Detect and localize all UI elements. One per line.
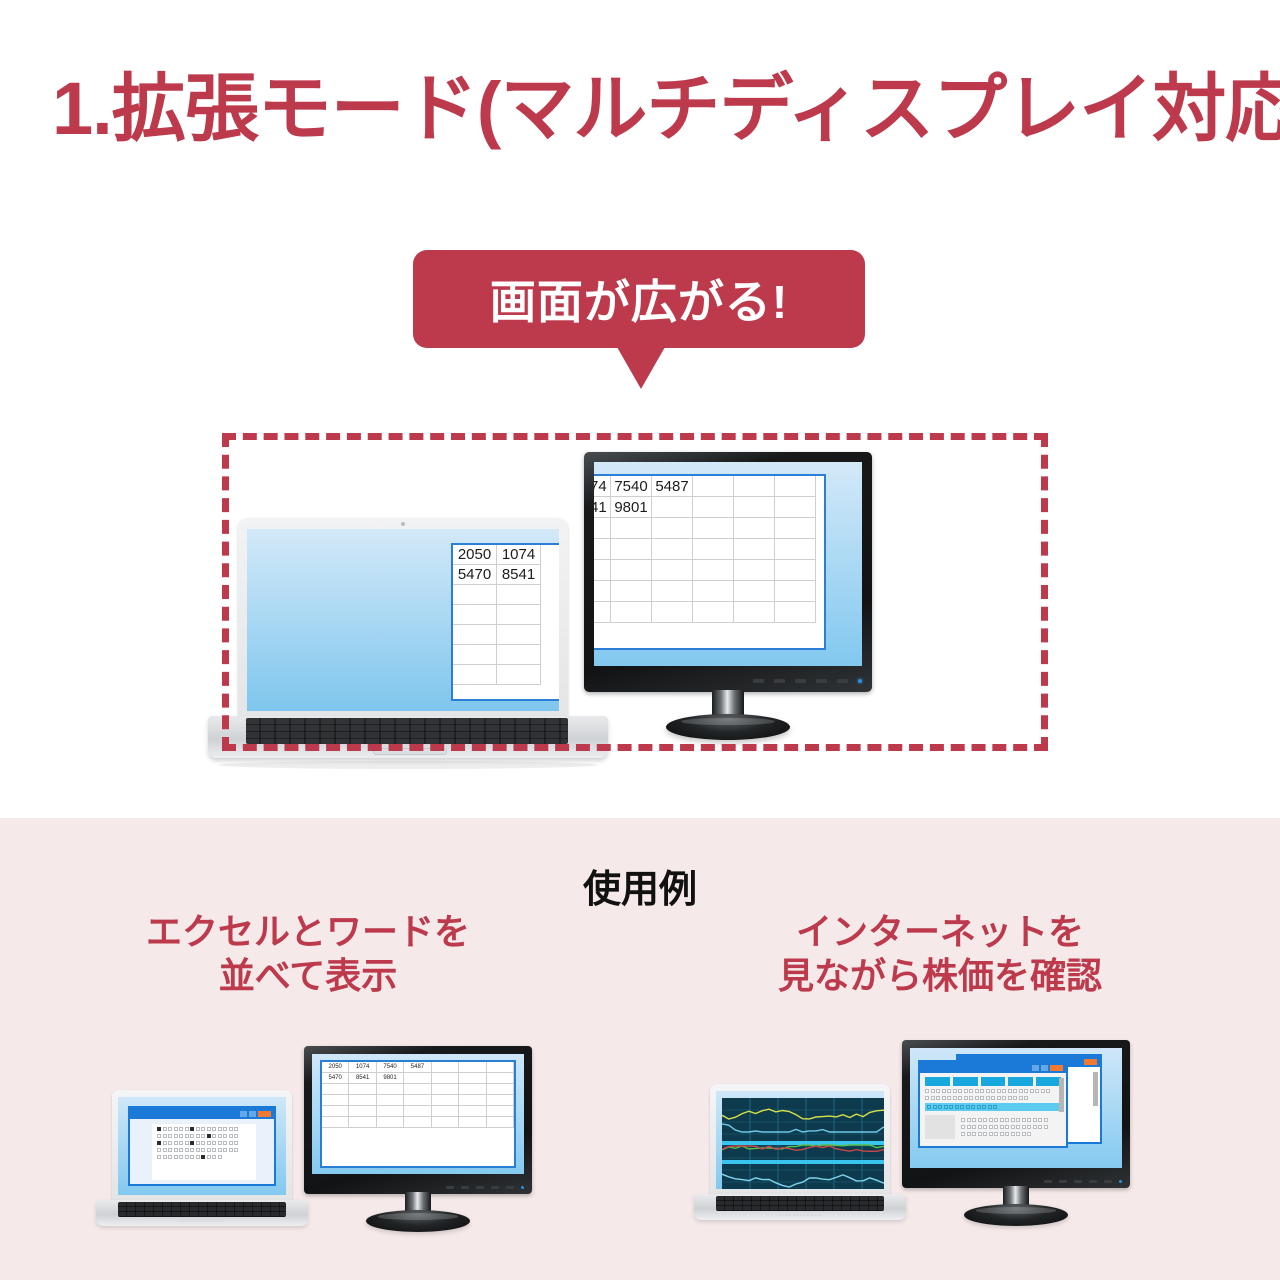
table-cell[interactable] <box>775 539 816 560</box>
table-cell[interactable] <box>453 645 497 665</box>
top-section: 1.拡張モード(マルチディスプレイ対応) 画面が広がる! 20501074547… <box>0 0 1280 818</box>
text-glyph <box>991 1089 995 1093</box>
table-cell[interactable] <box>775 476 816 497</box>
table-cell[interactable] <box>487 1095 514 1106</box>
table-cell[interactable] <box>322 1117 349 1128</box>
table-cell[interactable]: 5470 <box>322 1073 349 1084</box>
text-glyph <box>1008 1096 1012 1100</box>
table-cell[interactable]: 1074 <box>594 476 611 497</box>
table-cell[interactable] <box>487 1062 514 1073</box>
laptop-trackpad[interactable] <box>778 1213 822 1216</box>
table-row: 20501074 <box>453 545 559 565</box>
monitor-stand <box>666 714 790 740</box>
table-cell[interactable]: 1074 <box>497 545 541 565</box>
minimize-icon[interactable] <box>1032 1065 1039 1071</box>
table-cell[interactable] <box>734 539 775 560</box>
monitor-screen: 10747540548785419801 <box>594 462 862 666</box>
laptop-trackpad[interactable] <box>180 1219 224 1222</box>
monitor-bezel: 2050107475405487547085419801 <box>304 1046 532 1194</box>
word-document-window[interactable] <box>128 1106 276 1186</box>
table-cell[interactable] <box>377 1117 404 1128</box>
text-glyph <box>196 1148 200 1152</box>
table-cell[interactable] <box>487 1073 514 1084</box>
table-cell[interactable] <box>611 581 652 602</box>
table-row <box>322 1084 514 1095</box>
text-glyph <box>925 1089 929 1093</box>
text-glyph <box>961 1118 965 1122</box>
table-cell[interactable] <box>652 518 693 539</box>
usecase-section: 使用例 エクセルとワードを 並べて表示 <box>0 818 1280 1280</box>
monitor-button-power[interactable] <box>837 679 848 683</box>
text-glyph <box>207 1134 211 1138</box>
table-cell[interactable] <box>459 1095 486 1106</box>
nav-item[interactable] <box>925 1077 950 1086</box>
text-glyph <box>1008 1089 1012 1093</box>
table-cell[interactable]: 8541 <box>349 1073 376 1084</box>
text-glyph <box>944 1105 948 1109</box>
nav-item[interactable] <box>1008 1077 1033 1086</box>
text-glyph <box>1041 1089 1045 1093</box>
close-icon[interactable] <box>258 1111 271 1117</box>
text-line <box>925 1096 1066 1100</box>
text-glyph <box>1038 1125 1042 1129</box>
text-glyph <box>163 1141 167 1145</box>
table-cell[interactable] <box>322 1095 349 1106</box>
laptop-lid: 2050107454708541 <box>238 518 568 718</box>
text-glyph <box>1046 1089 1050 1093</box>
monitor-button-input[interactable] <box>491 1186 499 1189</box>
maximize-icon[interactable] <box>1041 1065 1048 1071</box>
text-glyph <box>168 1134 172 1138</box>
table-cell[interactable] <box>611 518 652 539</box>
table-cell[interactable] <box>611 602 652 623</box>
table-cell[interactable] <box>497 585 541 605</box>
table-cell[interactable] <box>693 560 734 581</box>
text-glyph <box>223 1141 227 1145</box>
text-glyph <box>212 1155 216 1159</box>
table-cell[interactable] <box>453 665 497 685</box>
table-cell[interactable] <box>459 1062 486 1073</box>
minimize-icon[interactable] <box>240 1111 247 1117</box>
table-cell[interactable]: 8541 <box>594 497 611 518</box>
text-glyph <box>931 1096 935 1100</box>
table-cell[interactable] <box>404 1095 431 1106</box>
table-cell[interactable] <box>652 497 693 518</box>
table-cell[interactable]: 1074 <box>349 1062 376 1073</box>
text-glyph <box>163 1134 167 1138</box>
text-glyph <box>994 1125 998 1129</box>
text-glyph <box>229 1127 233 1131</box>
table-cell[interactable] <box>594 581 611 602</box>
text-glyph <box>1013 1096 1017 1100</box>
text-glyph <box>966 1105 970 1109</box>
table-cell[interactable] <box>734 476 775 497</box>
table-cell[interactable]: 5487 <box>652 476 693 497</box>
text-glyph <box>174 1134 178 1138</box>
laptop-keyboard[interactable] <box>716 1196 884 1211</box>
text-glyph <box>234 1134 238 1138</box>
text-line <box>925 1089 1066 1093</box>
usecase-right-laptop <box>694 1084 906 1230</box>
usecase-left-monitor: 2050107475405487547085419801 <box>304 1046 532 1236</box>
table-cell[interactable] <box>693 518 734 539</box>
table-cell[interactable] <box>652 560 693 581</box>
laptop-trackpad[interactable] <box>373 748 447 755</box>
table-cell[interactable] <box>432 1117 459 1128</box>
text-glyph <box>196 1141 200 1145</box>
monitor-button-down[interactable] <box>476 1186 484 1189</box>
table-cell[interactable] <box>322 1084 349 1095</box>
text-glyph <box>1000 1132 1004 1136</box>
text-glyph <box>1035 1089 1039 1093</box>
text-glyph <box>168 1155 172 1159</box>
text-glyph <box>1016 1132 1020 1136</box>
laptop-keyboard[interactable] <box>246 718 568 744</box>
table-cell[interactable] <box>377 1095 404 1106</box>
text-glyph <box>1000 1118 1004 1122</box>
power-led-icon <box>858 679 862 683</box>
text-glyph <box>179 1127 183 1131</box>
text-glyph <box>185 1134 189 1138</box>
table-cell[interactable] <box>432 1084 459 1095</box>
text-glyph <box>978 1132 982 1136</box>
monitor-button-down[interactable] <box>795 679 806 683</box>
monitor-button-menu[interactable] <box>753 679 764 683</box>
page-title: 1.拡張モード(マルチディスプレイ対応) <box>52 72 1280 146</box>
chart-series-line <box>722 1124 884 1132</box>
laptop-lid <box>112 1090 292 1202</box>
text-glyph <box>983 1118 987 1122</box>
monitor-control-buttons[interactable] <box>1044 1180 1122 1183</box>
text-glyph <box>972 1125 976 1129</box>
text-glyph <box>168 1127 172 1131</box>
table-cell[interactable] <box>404 1073 431 1084</box>
text-glyph <box>978 1125 982 1129</box>
text-glyph <box>986 1089 990 1093</box>
table-cell[interactable] <box>693 497 734 518</box>
monitor-button-up[interactable] <box>461 1186 469 1189</box>
text-glyph <box>1027 1132 1031 1136</box>
text-glyph <box>174 1127 178 1131</box>
text-glyph <box>196 1134 200 1138</box>
text-glyph <box>1019 1096 1023 1100</box>
laptop-screen: 2050107454708541 <box>247 529 559 711</box>
table-cell[interactable] <box>453 585 497 605</box>
table-cell[interactable] <box>734 497 775 518</box>
table-cell[interactable] <box>459 1106 486 1117</box>
usecase-heading-right-line2: 見ながら株価を確認 <box>660 954 1220 998</box>
nav-item[interactable] <box>1036 1077 1061 1086</box>
text-glyph <box>1000 1125 1004 1129</box>
table-cell[interactable] <box>775 497 816 518</box>
text-glyph <box>157 1141 161 1145</box>
table-cell[interactable] <box>453 625 497 645</box>
text-glyph <box>218 1134 222 1138</box>
monitor-button-up[interactable] <box>774 679 785 683</box>
text-glyph <box>168 1141 172 1145</box>
monitor-button-menu[interactable] <box>446 1186 454 1189</box>
text-line <box>157 1127 256 1131</box>
text-glyph <box>972 1118 976 1122</box>
browser-content <box>920 1089 1066 1139</box>
text-glyph <box>218 1127 222 1131</box>
text-glyph <box>931 1089 935 1093</box>
text-glyph <box>953 1096 957 1100</box>
text-glyph <box>925 1096 929 1100</box>
table-cell[interactable] <box>775 602 816 623</box>
table-cell[interactable] <box>497 625 541 645</box>
text-glyph <box>218 1155 222 1159</box>
monitor-stand <box>366 1210 470 1232</box>
table-cell[interactable]: 7540 <box>611 476 652 497</box>
close-icon[interactable] <box>1084 1059 1097 1065</box>
table-cell[interactable] <box>349 1117 376 1128</box>
monitor-control-buttons[interactable] <box>446 1186 524 1189</box>
text-glyph <box>196 1127 200 1131</box>
monitor-button-input[interactable] <box>1089 1180 1097 1183</box>
text-glyph <box>986 1096 990 1100</box>
table-cell[interactable] <box>693 602 734 623</box>
text-line <box>157 1155 256 1159</box>
text-glyph <box>980 1089 984 1093</box>
table-cell[interactable] <box>432 1073 459 1084</box>
table-cell[interactable] <box>487 1084 514 1095</box>
table-cell[interactable] <box>594 602 611 623</box>
text-line <box>157 1148 256 1152</box>
table-cell[interactable] <box>487 1106 514 1117</box>
table-row: 107475405487 <box>594 476 824 497</box>
text-glyph <box>174 1141 178 1145</box>
table-cell[interactable] <box>453 605 497 625</box>
table-cell[interactable] <box>734 560 775 581</box>
table-cell[interactable] <box>693 539 734 560</box>
table-cell[interactable] <box>734 581 775 602</box>
table-cell[interactable] <box>652 539 693 560</box>
table-cell[interactable] <box>693 581 734 602</box>
text-glyph <box>185 1148 189 1152</box>
text-glyph <box>997 1096 1001 1100</box>
table-cell[interactable] <box>432 1106 459 1117</box>
monitor-control-buttons[interactable] <box>753 679 862 683</box>
text-glyph <box>964 1096 968 1100</box>
text-glyph <box>1030 1089 1034 1093</box>
table-row <box>453 625 559 645</box>
spreadsheet-window[interactable]: 2050107475405487547085419801 <box>320 1060 516 1168</box>
text-glyph <box>223 1127 227 1131</box>
browser-nav-bar[interactable] <box>920 1073 1066 1086</box>
table-cell[interactable] <box>487 1117 514 1128</box>
table-cell[interactable] <box>459 1084 486 1095</box>
table-cell[interactable]: 9801 <box>377 1073 404 1084</box>
usecase-left-laptop <box>96 1090 308 1236</box>
monitor-button-power[interactable] <box>1104 1180 1112 1183</box>
text-glyph <box>961 1132 965 1136</box>
table-cell[interactable] <box>611 539 652 560</box>
text-glyph <box>942 1096 946 1100</box>
text-line <box>961 1118 1048 1122</box>
text-glyph <box>201 1134 205 1138</box>
maximize-icon[interactable] <box>249 1111 256 1117</box>
table-row <box>594 602 824 623</box>
monitor-bezel: 10747540548785419801 <box>584 452 872 692</box>
monitor-button-menu[interactable] <box>1044 1180 1052 1183</box>
spreadsheet-window-right-half[interactable]: 10747540548785419801 <box>594 474 826 650</box>
text-glyph <box>229 1134 233 1138</box>
callout-bubble-tail <box>617 347 665 389</box>
monitor-button-input[interactable] <box>816 679 827 683</box>
text-glyph <box>1005 1132 1009 1136</box>
text-glyph <box>983 1132 987 1136</box>
text-glyph <box>967 1118 971 1122</box>
usecase-heading-left-line2: 並べて表示 <box>28 954 588 998</box>
table-row <box>594 560 824 581</box>
text-glyph <box>975 1089 979 1093</box>
text-glyph <box>212 1134 216 1138</box>
text-glyph <box>1024 1089 1028 1093</box>
text-glyph <box>960 1105 964 1109</box>
text-glyph <box>190 1141 194 1145</box>
table-cell[interactable] <box>349 1106 376 1117</box>
scrollbar-thumb[interactable] <box>1059 1078 1064 1112</box>
highlighted-row[interactable] <box>925 1103 1061 1111</box>
text-glyph <box>942 1089 946 1093</box>
text-glyph <box>157 1155 161 1159</box>
text-glyph <box>174 1155 178 1159</box>
table-cell[interactable] <box>322 1106 349 1117</box>
table-cell[interactable] <box>775 560 816 581</box>
table-cell[interactable] <box>594 539 611 560</box>
table-cell[interactable]: 2050 <box>322 1062 349 1073</box>
table-cell[interactable] <box>459 1073 486 1084</box>
text-glyph <box>212 1141 216 1145</box>
close-icon[interactable] <box>1050 1065 1063 1071</box>
text-line <box>157 1141 256 1145</box>
table-cell[interactable] <box>432 1062 459 1073</box>
text-glyph <box>1011 1118 1015 1122</box>
table-cell[interactable]: 7540 <box>377 1062 404 1073</box>
text-glyph <box>1027 1125 1031 1129</box>
text-glyph <box>989 1132 993 1136</box>
monitor-button-down[interactable] <box>1074 1180 1082 1183</box>
table-row: 2050107475405487 <box>322 1062 514 1073</box>
browser-window-front[interactable] <box>918 1060 1068 1148</box>
table-cell[interactable] <box>349 1095 376 1106</box>
article-text <box>961 1115 1048 1139</box>
table-cell[interactable] <box>693 476 734 497</box>
nav-item[interactable] <box>981 1077 1006 1086</box>
usecase-right-monitor <box>902 1040 1130 1230</box>
table-cell[interactable] <box>377 1084 404 1095</box>
text-glyph <box>185 1155 189 1159</box>
text-glyph <box>969 1089 973 1093</box>
text-glyph <box>955 1105 959 1109</box>
text-glyph <box>168 1148 172 1152</box>
table-cell[interactable] <box>497 605 541 625</box>
text-glyph <box>969 1096 973 1100</box>
text-glyph <box>1033 1125 1037 1129</box>
table-cell[interactable] <box>734 518 775 539</box>
table-cell[interactable] <box>734 602 775 623</box>
table-row: 547085419801 <box>322 1073 514 1084</box>
table-cell[interactable] <box>404 1106 431 1117</box>
text-glyph <box>933 1105 937 1109</box>
text-glyph <box>971 1105 975 1109</box>
text-glyph <box>190 1134 194 1138</box>
table-cell[interactable] <box>775 581 816 602</box>
webcam-icon <box>401 522 405 526</box>
table-cell[interactable] <box>432 1095 459 1106</box>
text-glyph <box>229 1148 233 1152</box>
text-glyph <box>927 1105 931 1109</box>
text-glyph <box>983 1125 987 1129</box>
table-cell[interactable]: 8541 <box>497 565 541 585</box>
text-glyph <box>1044 1125 1048 1129</box>
window-titlebar <box>920 1062 1066 1073</box>
text-glyph <box>936 1096 940 1100</box>
table-cell[interactable] <box>652 581 693 602</box>
spreadsheet-window-left-half[interactable]: 2050107454708541 <box>451 543 559 701</box>
table-cell[interactable] <box>497 665 541 685</box>
table-row <box>453 665 559 685</box>
table-cell[interactable] <box>404 1084 431 1095</box>
text-glyph <box>190 1148 194 1152</box>
table-cell[interactable] <box>594 560 611 581</box>
table-cell[interactable] <box>404 1117 431 1128</box>
table-cell[interactable] <box>459 1117 486 1128</box>
text-glyph <box>190 1155 194 1159</box>
monitor-screen <box>910 1048 1122 1168</box>
text-glyph <box>212 1127 216 1131</box>
text-glyph <box>1044 1118 1048 1122</box>
table-cell[interactable] <box>377 1106 404 1117</box>
text-glyph <box>967 1132 971 1136</box>
table-cell[interactable] <box>775 518 816 539</box>
text-glyph <box>185 1141 189 1145</box>
text-glyph <box>223 1134 227 1138</box>
text-glyph <box>1005 1118 1009 1122</box>
usecase-excel-word: エクセルとワードを 並べて表示 <box>28 910 588 998</box>
nav-item[interactable] <box>953 1077 978 1086</box>
monitor-button-up[interactable] <box>1059 1180 1067 1183</box>
table-cell[interactable] <box>497 645 541 665</box>
text-glyph <box>982 1105 986 1109</box>
scrollbar-thumb[interactable] <box>1093 1072 1098 1106</box>
text-glyph <box>993 1105 997 1109</box>
text-glyph <box>991 1096 995 1100</box>
laptop-keyboard[interactable] <box>118 1202 286 1217</box>
table-cell[interactable] <box>652 602 693 623</box>
table-cell[interactable]: 5487 <box>404 1062 431 1073</box>
table-cell[interactable]: 9801 <box>611 497 652 518</box>
text-glyph <box>958 1089 962 1093</box>
laptop-screen <box>716 1091 884 1189</box>
table-cell[interactable] <box>611 560 652 581</box>
table-cell[interactable]: 2050 <box>453 545 497 565</box>
document-page <box>152 1124 256 1180</box>
table-row <box>453 645 559 665</box>
text-glyph <box>207 1155 211 1159</box>
usecase-heading-left: エクセルとワードを 並べて表示 <box>28 910 588 998</box>
table-cell[interactable]: 5470 <box>453 565 497 585</box>
table-cell[interactable] <box>349 1084 376 1095</box>
table-row <box>594 518 824 539</box>
text-glyph <box>1024 1096 1028 1100</box>
chart-series-line <box>722 1174 884 1187</box>
monitor-button-power[interactable] <box>506 1186 514 1189</box>
stock-chart-svg <box>722 1098 884 1189</box>
text-glyph <box>234 1141 238 1145</box>
table-cell[interactable] <box>594 518 611 539</box>
